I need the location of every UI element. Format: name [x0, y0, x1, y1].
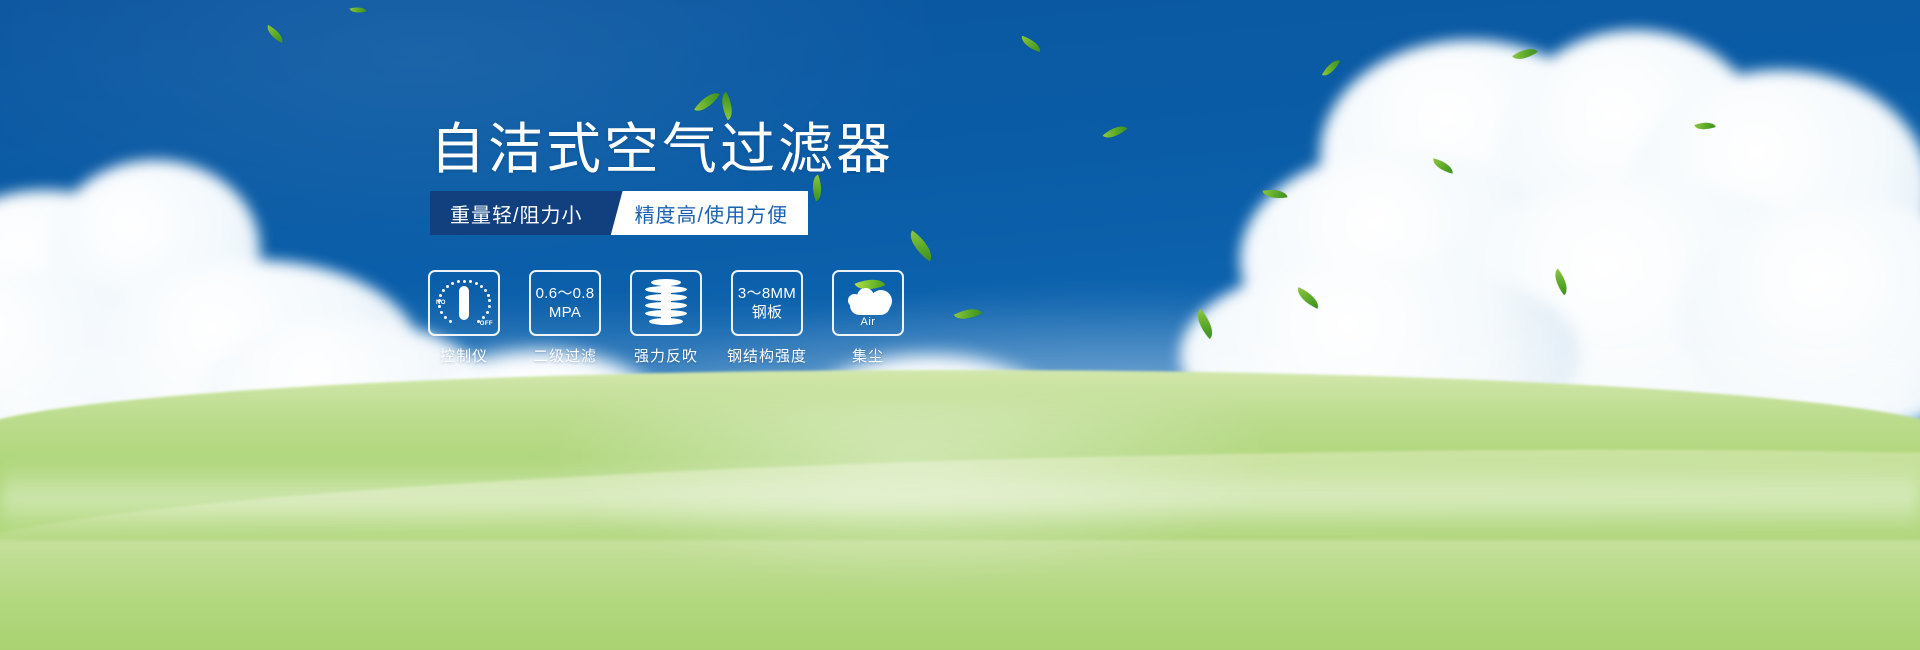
tagline-right: 精度高/使用方便: [631, 191, 809, 235]
floating-leaf-icon: [1103, 120, 1128, 143]
banner-content: 自洁式空气过滤器 重量轻/阻力小 精度高/使用方便: [430, 0, 1070, 650]
air-label: Air: [840, 316, 896, 328]
feature-label: 二级过滤: [533, 345, 597, 366]
gauge-needle: [459, 286, 469, 320]
cloud-body: [850, 296, 890, 315]
gauge-dial-icon: NO OFF: [436, 278, 492, 328]
steel-value-line1: 3～8MM: [738, 284, 796, 303]
feature-icon-box: 3～8MM 钢板: [731, 270, 803, 336]
feature-item: NO OFF 控制仪: [428, 270, 500, 366]
tagline-left: 重量轻/阻力小: [430, 191, 605, 235]
feature-label: 强力反吹: [634, 345, 698, 366]
pressure-value-line1: 0.6～0.8: [536, 284, 595, 303]
feature-icon-box: [630, 270, 702, 336]
product-banner: 自洁式空气过滤器 重量轻/阻力小 精度高/使用方便: [0, 0, 1920, 650]
feature-item: Air 集尘: [832, 270, 904, 366]
pressure-value-line2: MPA: [549, 303, 581, 322]
steel-value-line2: 钢板: [752, 303, 783, 322]
feature-label: 集尘: [852, 345, 884, 366]
feature-item: 强力反吹: [630, 270, 702, 366]
feature-icon-box: 0.6～0.8 MPA: [529, 270, 601, 336]
feature-label: 控制仪: [440, 345, 488, 366]
feature-item: 0.6～0.8 MPA 二级过滤: [529, 270, 601, 366]
feature-list: NO OFF 控制仪 0.6～0.8 MPA 二级过滤: [428, 270, 904, 366]
floating-leaf-icon: [264, 25, 287, 43]
floating-leaf-icon: [350, 5, 367, 16]
feature-label: 钢结构强度: [727, 345, 807, 366]
feature-item: 3～8MM 钢板 钢结构强度: [731, 270, 803, 366]
filter-cartridge-icon: [645, 279, 687, 327]
feature-icon-box: Air: [832, 270, 904, 336]
gauge-label-no: NO: [436, 300, 446, 306]
air-cloud-icon: Air: [840, 280, 896, 326]
feature-icon-box: NO OFF: [428, 270, 500, 336]
tagline-separator: [605, 191, 631, 235]
page-title: 自洁式空气过滤器: [430, 118, 894, 180]
gauge-label-off: OFF: [480, 321, 493, 327]
tagline-bar: 重量轻/阻力小 精度高/使用方便: [430, 191, 808, 235]
